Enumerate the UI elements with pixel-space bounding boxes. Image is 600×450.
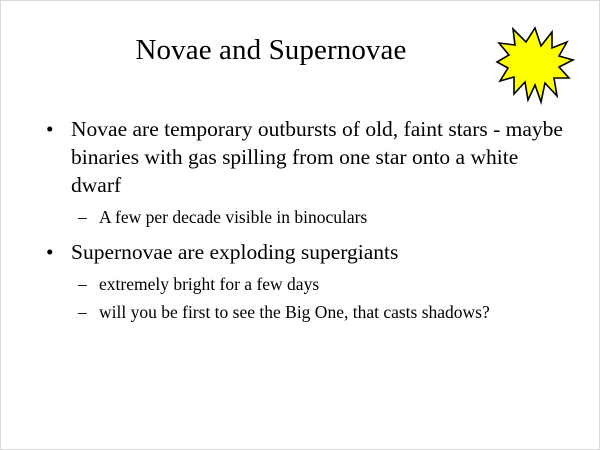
list-item-text: Novae are temporary outbursts of old, fa… <box>71 117 563 197</box>
list-item: – A few per decade visible in binoculars <box>1 205 600 229</box>
list-item-text: extremely bright for a few days <box>99 274 319 294</box>
page-title: Novae and Supernovae <box>136 35 407 67</box>
explosion-star-shape <box>497 26 573 104</box>
bullet-marker: – <box>78 300 87 324</box>
explosion-star-icon <box>497 26 573 104</box>
list-item-text: Supernovae are exploding supergiants <box>71 240 398 264</box>
list-item: – will you be first to see the Big One, … <box>1 300 600 324</box>
list-item-text: will you be first to see the Big One, th… <box>99 302 490 322</box>
list-item: • Novae are temporary outbursts of old, … <box>1 115 600 199</box>
list-item: • Supernovae are exploding supergiants <box>1 238 600 266</box>
bullet-marker: • <box>46 115 54 143</box>
list-item-text: A few per decade visible in binoculars <box>99 207 367 227</box>
bullet-marker: – <box>78 205 87 229</box>
list-item: – extremely bright for a few days <box>1 272 600 296</box>
bullet-marker: – <box>78 272 87 296</box>
bullet-list: • Novae are temporary outbursts of old, … <box>1 115 600 325</box>
presentation-slide: Novae and Supernovae • Novae are tempora… <box>0 0 600 450</box>
bullet-marker: • <box>46 238 54 266</box>
